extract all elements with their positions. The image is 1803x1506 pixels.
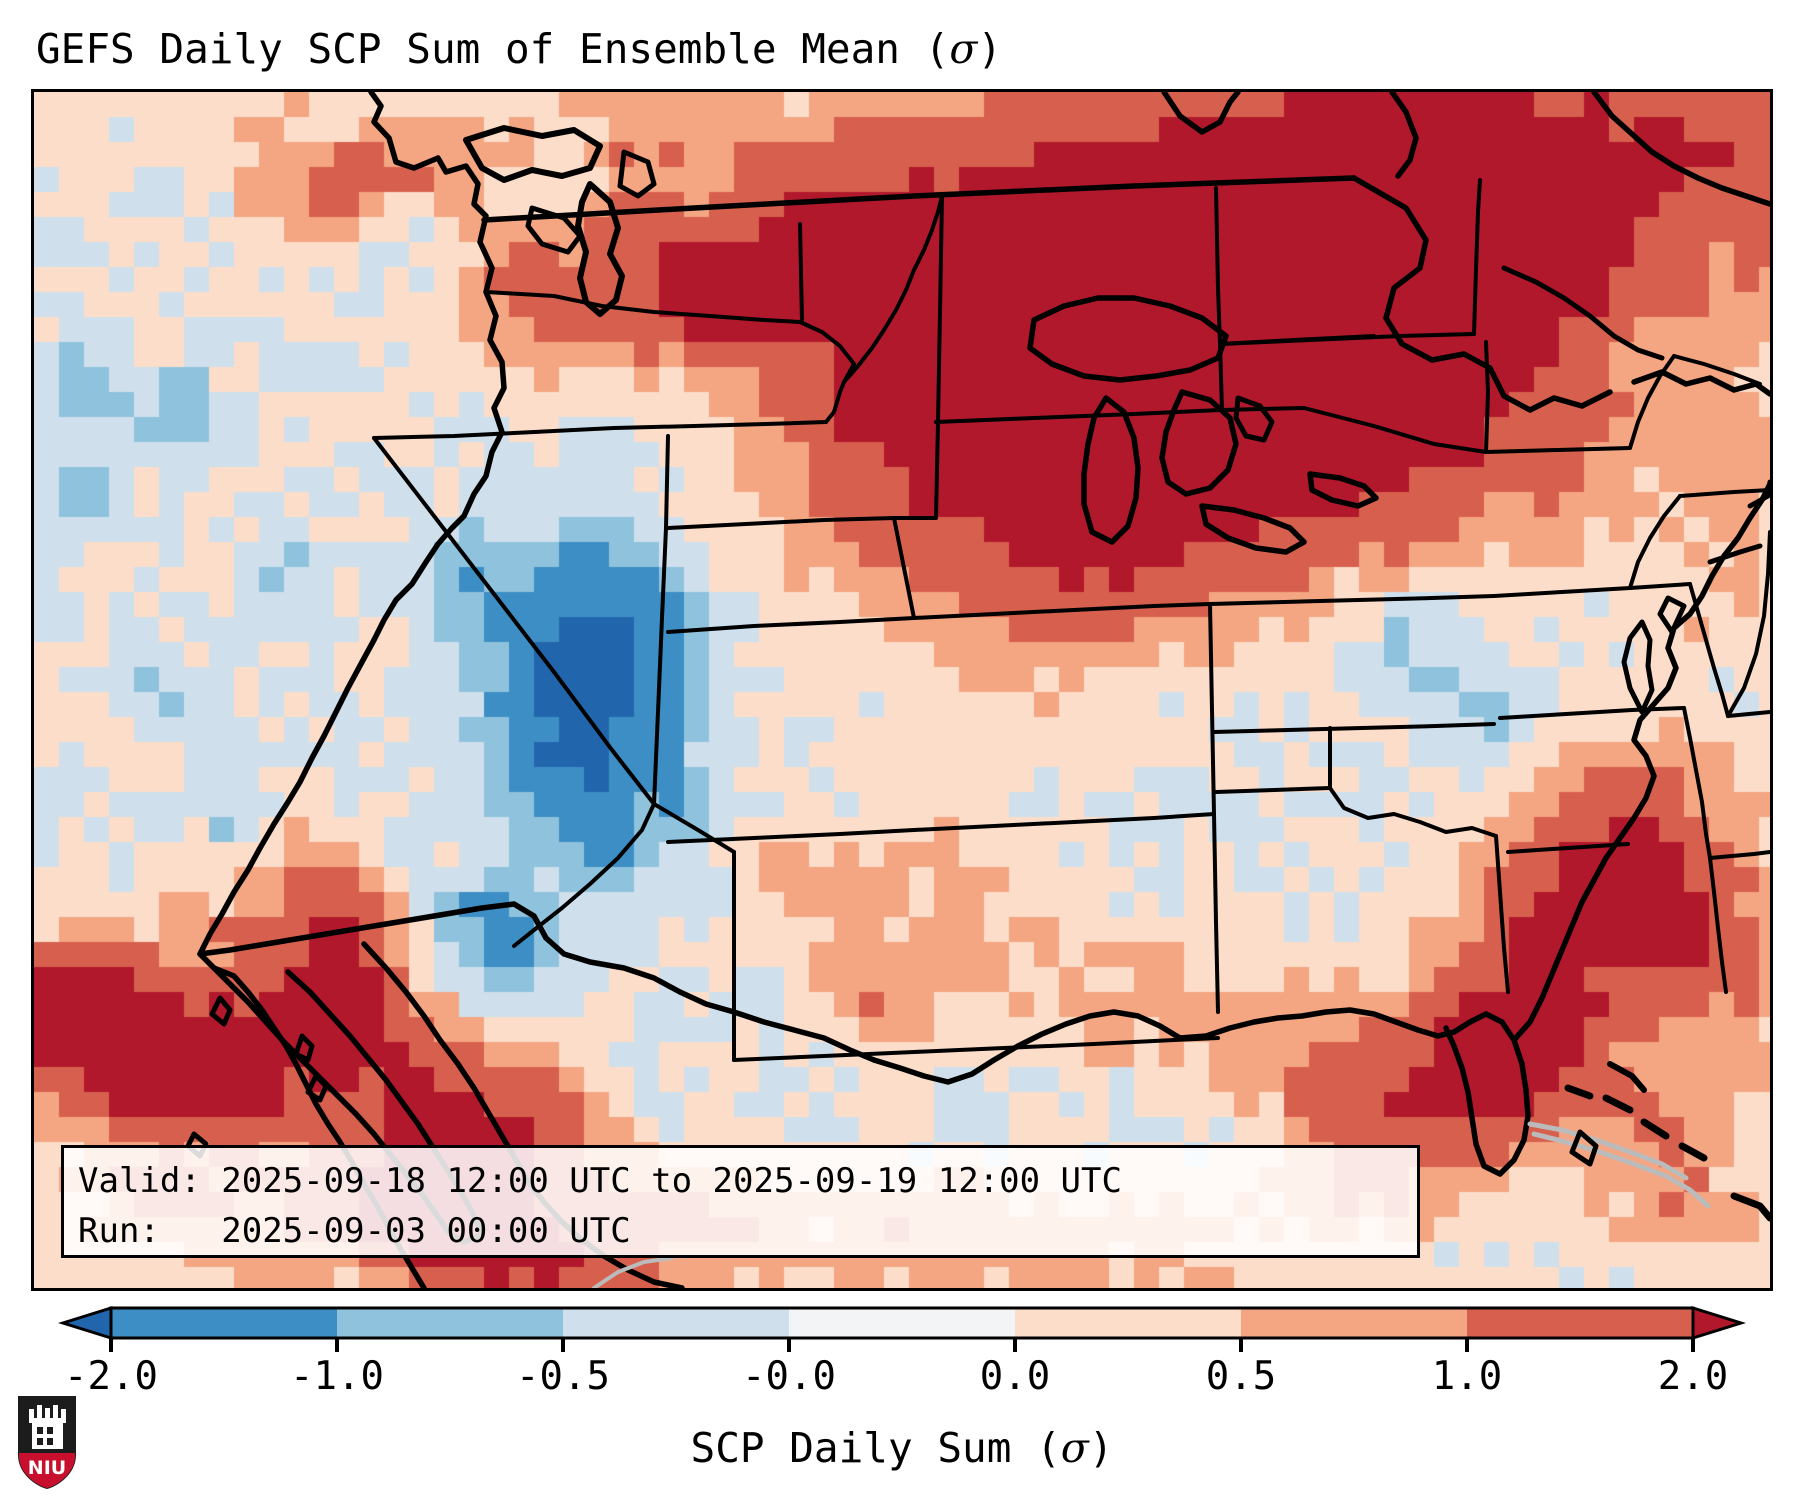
colorbar-segment-0 <box>111 1308 337 1338</box>
pacific-island-a <box>212 998 230 1024</box>
tx-la-border <box>1496 836 1508 992</box>
long-island <box>1710 546 1760 562</box>
wi-il-border <box>1680 490 1770 496</box>
logo-text-niu: NIU <box>28 1457 66 1479</box>
ok-tx-panhandle <box>1216 788 1330 792</box>
ky-tn-border <box>1728 712 1770 716</box>
id-nv-ut-border <box>826 382 844 422</box>
bahamas-2 <box>1606 1098 1630 1110</box>
co-nm-border <box>914 814 1214 830</box>
la-ms-border <box>1710 858 1726 992</box>
wy-sd-ne-border <box>936 410 1220 422</box>
canada-us-border-east <box>1354 178 1610 410</box>
cbar-label-sigma-symbol: σ <box>1061 1424 1089 1472</box>
map-clip <box>34 92 1770 1288</box>
lake-michigan <box>1084 398 1138 542</box>
valid-run-annotation-box: Valid: 2025-09-18 12:00 UTC to 2025-09-1… <box>61 1145 1420 1258</box>
coastlines-group <box>188 92 1770 1288</box>
colorbar-segment-4 <box>1015 1308 1241 1338</box>
bahamas-4 <box>1682 1146 1704 1158</box>
chesapeake-bay <box>1624 622 1652 712</box>
wy-ne-border <box>1220 344 1222 410</box>
colorbar-segment-6 <box>1467 1308 1693 1338</box>
nv-ut-border <box>654 436 668 804</box>
hudson-bay-coast <box>1164 92 1238 132</box>
colorbar-segment-5 <box>1241 1308 1467 1338</box>
puget-sound <box>578 184 622 314</box>
colorbar-extend-over <box>1693 1308 1741 1338</box>
ca-nv-border <box>374 438 654 804</box>
georgia-strait <box>620 152 654 196</box>
page-title: GEFS Daily SCP Sum of Ensemble Mean (σ) <box>36 18 1776 80</box>
hispaniola <box>1734 1196 1770 1218</box>
colorbar-extend-under <box>63 1308 111 1338</box>
colorbar-tick-label-0: -2.0 <box>64 1352 158 1402</box>
map-axes[interactable] <box>31 89 1773 1291</box>
sd-ne-border <box>1222 408 1486 452</box>
nd-mn-border <box>1474 180 1480 334</box>
nm-south-border <box>734 1038 1218 1060</box>
ut-co-border <box>668 618 914 632</box>
gulf-coast <box>1180 1010 1486 1038</box>
colorbar-tick-labels: -2.0-1.0-0.5-0.00.00.51.02.0 <box>31 1352 1773 1404</box>
colorbar-segment-3 <box>789 1308 1015 1338</box>
ca-az-border <box>514 804 654 946</box>
labrador-coast <box>1594 92 1770 204</box>
mo-il-border <box>1690 584 1728 716</box>
niu-shield-logo: NIU <box>16 1393 78 1491</box>
wy-co-border <box>894 518 914 618</box>
annotation-valid-line: Valid: 2025-09-18 12:00 UTC to 2025-09-1… <box>78 1156 1403 1206</box>
bahamas-1 <box>1568 1088 1590 1096</box>
colorbar-segment-2 <box>563 1308 789 1338</box>
bahamas-3 <box>1644 1122 1666 1136</box>
colorbar-segments <box>63 1308 1741 1338</box>
colorbar-segment-1 <box>337 1308 563 1338</box>
nm-tx-border <box>1214 814 1218 1012</box>
james-bay <box>1392 92 1416 176</box>
id-wa-border <box>800 224 802 322</box>
cbar-label-suffix: ) <box>1089 1424 1114 1472</box>
or-ca-border <box>374 422 826 438</box>
mt-nd-border <box>1216 188 1220 344</box>
colorbar-tick-label-6: 1.0 <box>1432 1352 1502 1402</box>
colorbar-tick-label-4: 0.0 <box>980 1352 1050 1402</box>
title-suffix: ) <box>977 25 1002 73</box>
ks-ok-border <box>1214 724 1494 732</box>
map-boundary-lines <box>34 92 1770 1288</box>
state-boundaries-group <box>374 180 1770 1060</box>
colorbar-tick-label-7: 2.0 <box>1658 1352 1728 1402</box>
mt-wy-border <box>894 196 942 518</box>
colorbar-tick-label-1: -1.0 <box>290 1352 384 1402</box>
id-mt-border <box>844 196 942 382</box>
or-id-border <box>800 322 854 382</box>
ia-mo-border <box>1494 584 1690 596</box>
ok-tx-red-river <box>1330 788 1496 836</box>
title-prefix: GEFS Daily SCP Sum of Ensemble Mean ( <box>36 25 949 73</box>
colorbar-axis-label: SCP Daily Sum (σ) <box>31 1418 1773 1478</box>
il-in-border <box>1728 532 1770 716</box>
cbar-label-prefix: SCP Daily Sum ( <box>691 1424 1061 1472</box>
annotation-run-line: Run: 2025-09-03 00:00 UTC <box>78 1206 1403 1256</box>
great-abaco <box>1610 1064 1644 1090</box>
co-east-border <box>1210 604 1214 814</box>
ut-wy-border <box>668 518 894 528</box>
lake-ontario <box>1310 474 1376 506</box>
ia-wi-il-border <box>1630 496 1680 588</box>
lake-superior <box>1030 298 1226 380</box>
atlantic-coastline <box>1514 484 1770 1040</box>
baja-island-1 <box>296 1036 312 1060</box>
ne-ks-border <box>1210 596 1494 604</box>
wa-or-border <box>486 292 800 322</box>
mn-wi-border <box>1630 356 1674 448</box>
colorbar-ticks <box>111 1338 1693 1352</box>
mn-ia-border <box>1486 448 1630 452</box>
tn-al-ms-border <box>1710 852 1770 858</box>
sd-mn-iowa-border <box>1486 342 1488 452</box>
delaware-bay <box>1660 598 1684 632</box>
colorbar-tick-label-3: -0.0 <box>742 1352 836 1402</box>
canada-us-border-49n <box>484 178 1354 220</box>
lake-erie <box>1202 506 1304 552</box>
georgian-bay <box>1236 398 1272 440</box>
colorbar[interactable] <box>31 1300 1773 1360</box>
title-sigma-symbol: σ <box>949 25 977 73</box>
colorbar-tick-label-2: -0.5 <box>516 1352 610 1402</box>
gulf-st-lawrence <box>1504 268 1662 358</box>
nv-az-border <box>654 804 734 852</box>
co-ks-ne-border <box>914 604 1210 618</box>
vancouver-island <box>466 128 600 180</box>
figure-root: GEFS Daily SCP Sum of Ensemble Mean (σ) <box>0 0 1803 1506</box>
colorbar-svg <box>31 1300 1773 1360</box>
colorbar-tick-label-5: 0.5 <box>1206 1352 1276 1402</box>
mo-ar-border <box>1500 708 1684 718</box>
ar-ms-border <box>1684 708 1710 858</box>
lake-huron <box>1162 392 1236 494</box>
cape-cod <box>1750 482 1770 506</box>
